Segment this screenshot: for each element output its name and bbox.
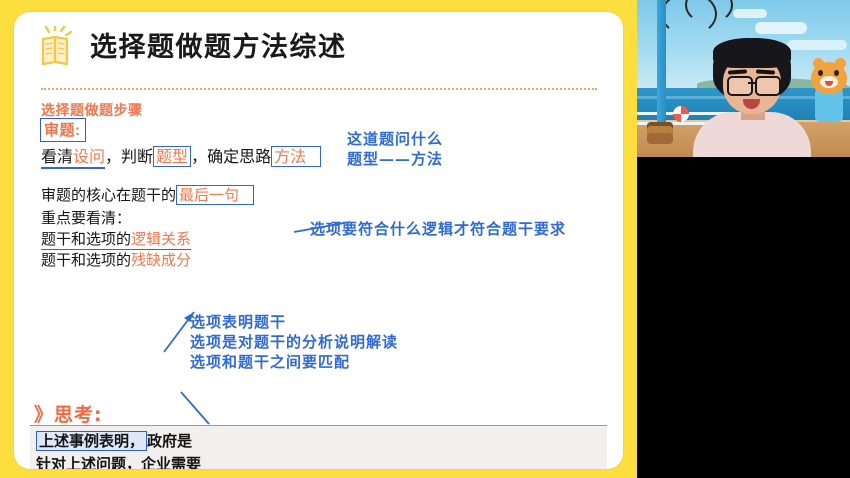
ann3-line3: 选项和题干之间要匹配 [190,352,398,372]
shewen-term: 设问 [73,147,105,169]
fangfa-term: 方法 [271,146,321,167]
page-title: 选择题做题方法综述 [90,34,347,61]
teacher-webcam[interactable] [637,0,850,157]
line-kanqing: 看清设问，判断题型，确定思路方法 [41,143,321,167]
shenti-label: 审题: [44,122,81,139]
think-line-1: 上述事例表明，政府是 [36,430,192,451]
slide-card: 选择题做题方法综述 选择题做题步骤 审题: 看清设问，判断题型，确定思路方法 审… [14,12,623,469]
tixing-term: 题型 [153,146,191,167]
glasses-icon [748,82,756,84]
kanqing-seg5: ，确定思路 [191,147,271,166]
cloud-icon [733,9,767,18]
video-letterbox [637,157,850,478]
title-divider [41,88,597,90]
annotation-option-stem: 选项表明题干 选项是对题干的分析说明解读 选项和题干之间要匹配 [190,312,398,372]
kanqing-seg3: ，判断 [105,147,153,166]
tiger-mascot-icon [834,70,839,76]
cloud-icon [755,22,807,34]
open-book-icon [40,26,80,68]
shenti-annotation: 审题: [40,118,86,142]
kanqing-seg1: 看清 [41,147,73,169]
ann1-line1: 这道题问什么 [347,129,443,149]
core-seg1: 审题的核心在题干的 [41,186,176,204]
logic-seg1: 题干和选项的 [41,230,131,250]
line-core: 审题的核心在题干的最后一句 [41,184,254,205]
line-logic: 题干和选项的逻辑关系 [41,228,191,249]
luoji-term: 逻辑关系 [131,230,191,250]
life-ring-icon [673,106,689,122]
pole-shape [657,0,666,128]
video-panel [637,0,850,478]
tiger-mascot-icon [818,70,823,76]
annotation-question-type: 这道题问什么 题型——方法 [347,129,443,169]
cloud-icon [787,40,847,50]
ann1-line2: 题型——方法 [347,149,443,169]
ann3-line1: 选项表明题干 [190,312,398,332]
think-heading: 》思考: [34,400,103,427]
slide-panel: 选择题做题方法综述 选择题做题步骤 审题: 看清设问，判断题型，确定思路方法 审… [0,0,637,478]
ann3-line2: 选项是对题干的分析说明解读 [190,332,398,352]
think-line1-rest: 政府是 [147,432,192,450]
screen-root: 选择题做题方法综述 选择题做题步骤 审题: 看清设问，判断题型，确定思路方法 审… [0,0,850,478]
slide-title-row: 选择题做题方法综述 [40,26,347,68]
barrel-icon [647,122,673,144]
line-zhongdian: 重点要看清： [41,207,131,228]
think-highlight: 上述事例表明， [36,431,147,451]
think-line-2: 针对上述问题，企业需要 [36,453,201,469]
annotation-logic-requirement: 选项要符合什么逻辑才符合题干要求 [310,218,566,239]
glasses-icon [727,76,753,96]
step-heading: 选择题做题步骤 [41,100,143,120]
zuihouyiju-term: 最后一句 [176,185,254,205]
canque-seg1: 题干和选项的 [41,251,131,269]
glasses-icon [755,76,781,96]
canque-term: 残缺成分 [131,251,191,269]
person-fringe [713,38,791,68]
shenti-blue-box: 审题: [40,118,86,142]
line-canque: 题干和选项的残缺成分 [41,249,191,270]
